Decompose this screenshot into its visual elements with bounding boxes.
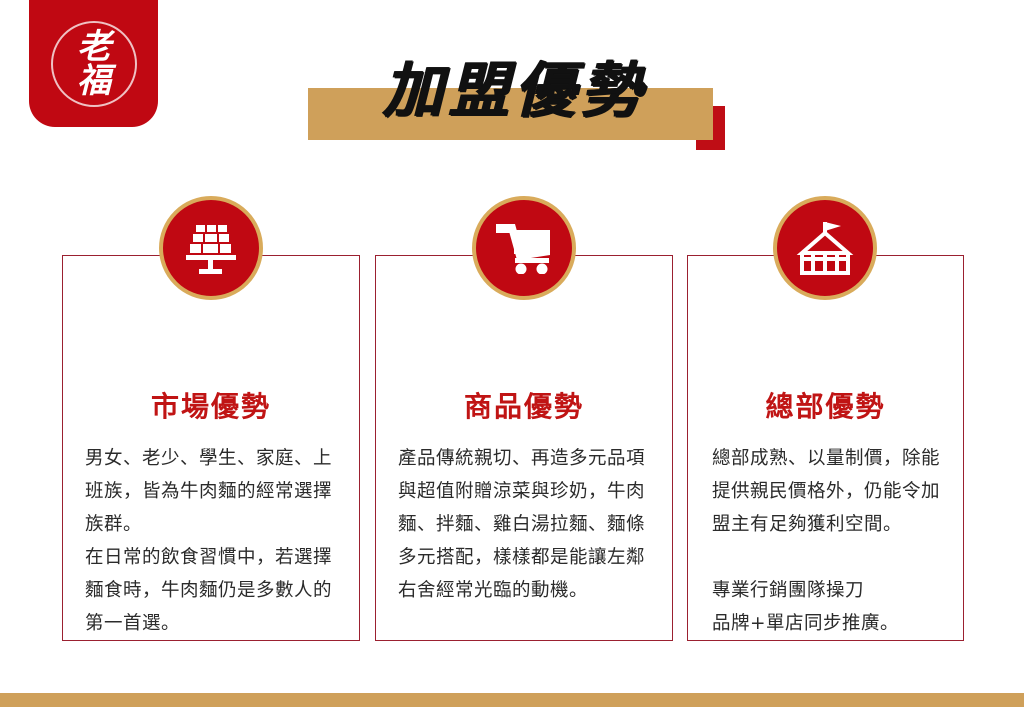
shopping-cart-icon xyxy=(472,196,576,300)
card-heading-market: 市場優勢 xyxy=(63,385,359,425)
advantage-card-market: 市場優勢 男女、老少、學生、家庭、上班族，皆為牛肉麵的經常選擇族群。 在日常的飲… xyxy=(62,255,360,641)
advantage-cards: 市場優勢 男女、老少、學生、家庭、上班族，皆為牛肉麵的經常選擇族群。 在日常的飲… xyxy=(0,196,1024,646)
card-body-market: 男女、老少、學生、家庭、上班族，皆為牛肉麵的經常選擇族群。 在日常的飲食習慣中，… xyxy=(85,442,341,640)
advantage-card-headquarters: 總部優勢 總部成熟、以量制價，除能提供親民價格外，仍能令加盟主有足夠獲利空間。 … xyxy=(687,255,964,641)
market-stall-icon xyxy=(159,196,263,300)
page-title-block: 加盟優勢 xyxy=(300,30,730,155)
brand-logo: 老 福 xyxy=(29,0,158,127)
slide-canvas: 老 福 加盟優勢 市場優勢 男女、老少、學生、家庭、上班族，皆為牛肉麵的經常選擇… xyxy=(0,0,1024,724)
headquarters-tent-icon xyxy=(773,196,877,300)
card-body-headquarters: 總部成熟、以量制價，除能提供親民價格外，仍能令加盟主有足夠獲利空間。 專業行銷團… xyxy=(712,442,953,640)
card-heading-product: 商品優勢 xyxy=(376,385,672,425)
advantage-card-product: 商品優勢 產品傳統親切、再造多元品項與超值附贈涼菜與珍奶，牛肉麵、拌麵、雞白湯拉… xyxy=(375,255,673,641)
card-body-product: 產品傳統親切、再造多元品項與超值附贈涼菜與珍奶，牛肉麵、拌麵、雞白湯拉麵、麵條多… xyxy=(398,442,654,607)
card-heading-headquarters: 總部優勢 xyxy=(688,385,963,425)
seal-logo-icon: 老 福 xyxy=(29,0,158,127)
brand-logo-text: 老 福 xyxy=(77,30,110,98)
page-title: 加盟優勢 xyxy=(300,30,730,140)
footer-gold-bar xyxy=(0,693,1024,707)
